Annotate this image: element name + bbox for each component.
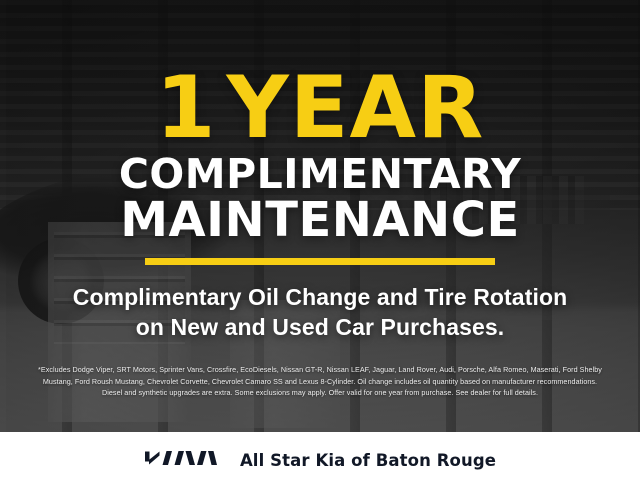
headline-duration-unit: YEAR xyxy=(227,58,485,158)
disclaimer-line-1: *Excludes Dodge Viper, SRT Motors, Sprin… xyxy=(38,364,602,375)
disclaimer-text: *Excludes Dodge Viper, SRT Motors, Sprin… xyxy=(26,364,614,398)
disclaimer-line-2: Mustang, Ford Roush Mustang, Chevrolet C… xyxy=(38,376,602,387)
offer-line-2: on New and Used Car Purchases. xyxy=(73,312,568,342)
offer-description: Complimentary Oil Change and Tire Rotati… xyxy=(73,282,568,343)
offer-line-1: Complimentary Oil Change and Tire Rotati… xyxy=(73,282,568,312)
kia-logo-icon xyxy=(144,447,218,474)
ad-content: 1YEAR COMPLIMENTARY MAINTENANCE Complime… xyxy=(0,0,640,488)
promotional-ad-banner[interactable]: 1YEAR COMPLIMENTARY MAINTENANCE Complime… xyxy=(0,0,640,488)
headline-maintenance: MAINTENANCE xyxy=(120,196,519,245)
headline-complimentary: COMPLIMENTARY xyxy=(119,154,521,196)
headline-duration-number: 1 xyxy=(156,58,217,158)
disclaimer-line-3: Diesel and synthetic upgrades are extra.… xyxy=(38,387,602,398)
dealer-footer-bar: All Star Kia of Baton Rouge xyxy=(0,432,640,488)
headline-duration: 1YEAR xyxy=(156,72,485,146)
yellow-divider-rule xyxy=(145,258,495,265)
dealer-name-label: All Star Kia of Baton Rouge xyxy=(240,451,496,470)
